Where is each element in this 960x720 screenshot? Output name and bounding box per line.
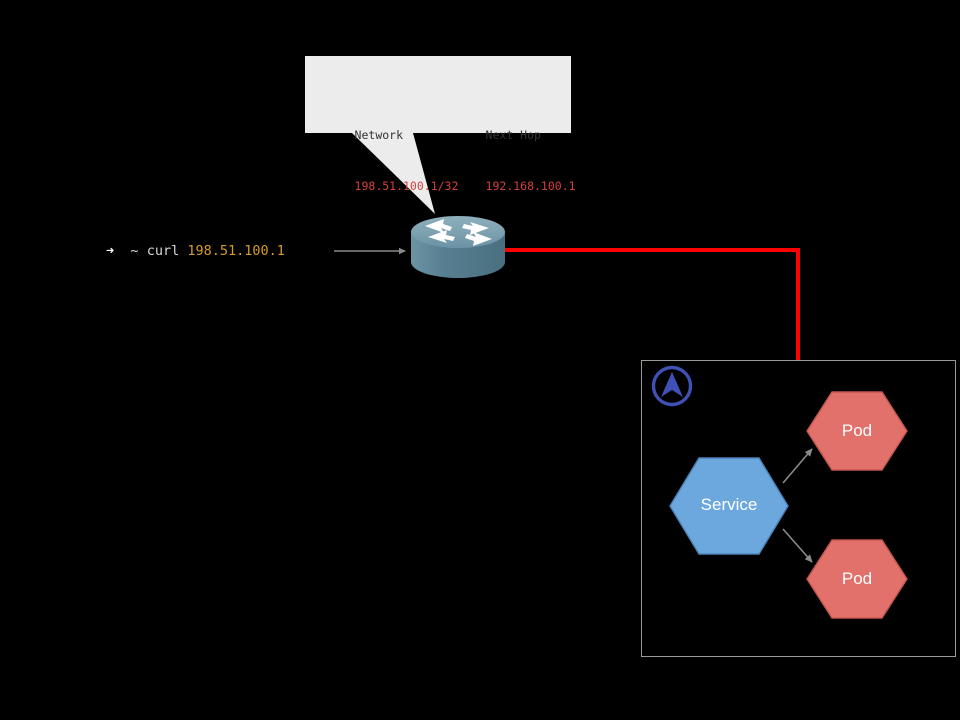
terminal-cwd bbox=[114, 243, 130, 259]
routing-table-column-next-hop: Next Hop 192.168.100.1 bbox=[486, 93, 576, 229]
routing-table-callout: Network 198.51.100.1/32 Next Hop 192.168… bbox=[305, 56, 571, 133]
terminal-cwd-value: ~ bbox=[130, 243, 138, 259]
routing-table-value-next-hop: 192.168.100.1 bbox=[486, 178, 576, 195]
diagram-canvas: Network 198.51.100.1/32 Next Hop 192.168… bbox=[0, 0, 960, 720]
terminal-prompt-arrow-icon: ➜ bbox=[106, 243, 114, 259]
kubernetes-logo-icon bbox=[650, 364, 694, 408]
node-pod-2-label: Pod bbox=[807, 569, 907, 589]
routing-table-value-network: 198.51.100.1/32 bbox=[355, 178, 486, 195]
node-service-label: Service bbox=[668, 495, 790, 515]
terminal-space-1 bbox=[139, 243, 147, 259]
route-path-line bbox=[505, 250, 798, 361]
node-pod-1-label: Pod bbox=[807, 421, 907, 441]
routing-table: Network 198.51.100.1/32 Next Hop 192.168… bbox=[313, 76, 576, 246]
routing-table-header-network: Network bbox=[355, 127, 486, 144]
routing-table-column-network: Network 198.51.100.1/32 bbox=[355, 93, 486, 229]
terminal-command-name: curl bbox=[147, 243, 180, 259]
terminal-command-line[interactable]: ➜ ~ curl 198.51.100.1 bbox=[106, 241, 285, 261]
terminal-command-argument: 198.51.100.1 bbox=[187, 243, 285, 259]
routing-table-header-next-hop: Next Hop bbox=[486, 127, 576, 144]
